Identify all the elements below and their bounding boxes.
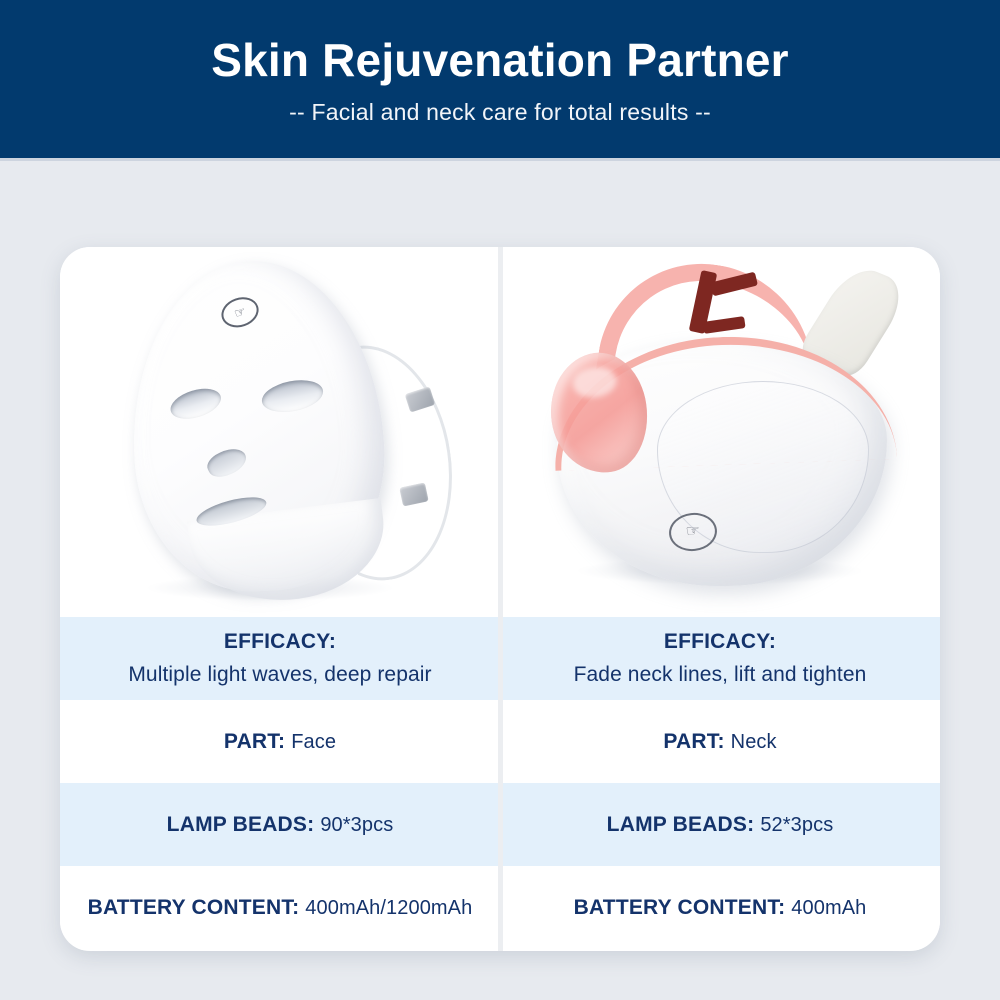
product-image-led-face-mask: ☞	[60, 247, 500, 617]
spec-value-battery-neck: 400mAh	[791, 897, 866, 920]
spec-cell-lamp-beads-face: LAMP BEADS: 90*3pcs	[60, 783, 500, 866]
page-title: Skin Rejuvenation Partner	[211, 36, 789, 84]
page-header: Skin Rejuvenation Partner -- Facial and …	[0, 0, 1000, 158]
spec-label-part-neck: PART:	[663, 730, 724, 754]
spec-value-part-neck: Neck	[731, 731, 777, 754]
spec-label-lamp-beads-face: LAMP BEADS:	[167, 813, 315, 837]
column-divider	[498, 247, 503, 951]
face-mask-nose-opening	[204, 443, 250, 482]
spec-cell-lamp-beads-neck: LAMP BEADS: 52*3pcs	[500, 783, 940, 866]
spec-label-efficacy-neck: EFFICACY:	[664, 630, 776, 654]
spec-cell-part-face: PART: Face	[60, 700, 500, 783]
face-mask-eye-opening-right	[259, 376, 326, 417]
spec-cell-part-neck: PART: Neck	[500, 700, 940, 783]
spec-value-lamp-beads-face: 90*3pcs	[320, 814, 393, 837]
face-mask-shell: ☞	[125, 255, 392, 598]
touch-power-glyph: ☞	[685, 523, 701, 540]
face-mask-eye-opening-left	[167, 383, 225, 424]
product-comparison-card: ☞ ☞	[60, 247, 940, 951]
spec-value-part-face: Face	[291, 731, 336, 754]
spec-label-lamp-beads-neck: LAMP BEADS:	[607, 813, 755, 837]
spec-cell-efficacy-neck: EFFICACY: Fade neck lines, lift and tigh…	[500, 617, 940, 700]
spec-label-efficacy-face: EFFICACY:	[224, 630, 336, 654]
neck-device-pad-highlight	[571, 364, 619, 400]
product-image-led-neck-device: ☞	[500, 247, 940, 617]
touch-power-icon: ☞	[217, 292, 262, 332]
spec-value-lamp-beads-neck: 52*3pcs	[760, 814, 833, 837]
spec-cell-battery-neck: BATTERY CONTENT: 400mAh	[500, 866, 940, 950]
header-divider	[0, 158, 1000, 161]
neck-device-illustration: ☞	[535, 257, 905, 607]
spec-label-part-face: PART:	[224, 730, 285, 754]
spec-label-battery-neck: BATTERY CONTENT:	[574, 896, 786, 920]
spec-label-battery-face: BATTERY CONTENT:	[88, 896, 300, 920]
touch-power-glyph: ☞	[232, 304, 247, 320]
spec-value-efficacy-neck: Fade neck lines, lift and tighten	[574, 663, 867, 687]
spec-value-efficacy-face: Multiple light waves, deep repair	[128, 663, 431, 687]
spec-cell-battery-face: BATTERY CONTENT: 400mAh/1200mAh	[60, 866, 500, 950]
page-subtitle: -- Facial and neck care for total result…	[289, 99, 711, 126]
spec-cell-efficacy-face: EFFICACY: Multiple light waves, deep rep…	[60, 617, 500, 700]
face-mask-illustration: ☞	[115, 257, 445, 607]
spec-value-battery-face: 400mAh/1200mAh	[305, 897, 472, 920]
